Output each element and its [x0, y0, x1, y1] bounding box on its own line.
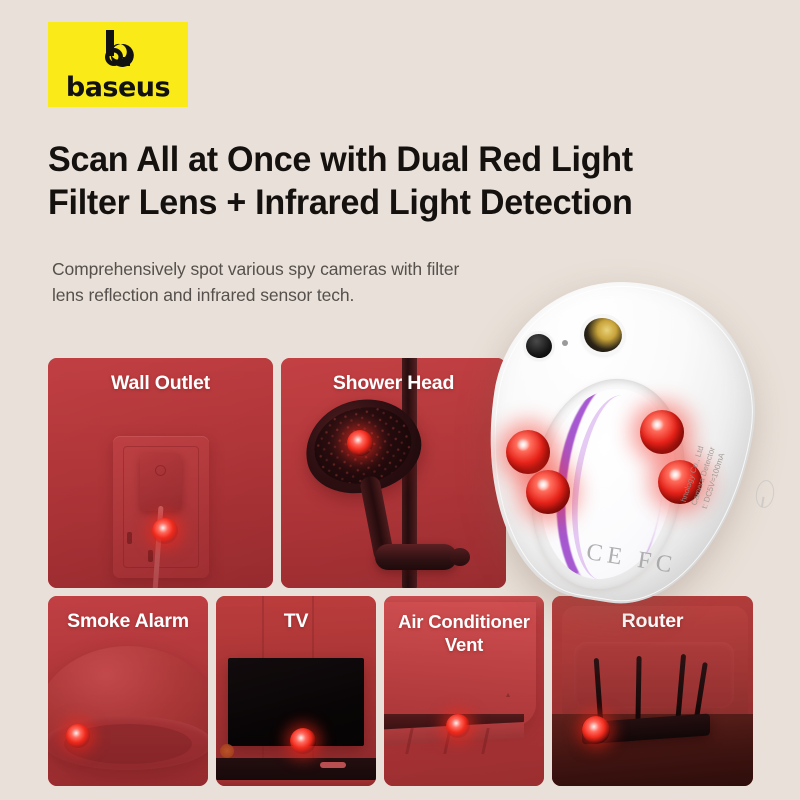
headline-line-1: Scan All at Once with Dual Red Light	[48, 138, 720, 181]
scenario-card-router[interactable]: Router	[552, 596, 753, 786]
subheadline-line-1: Comprehensively spot various spy cameras…	[52, 256, 592, 282]
outlet-slot	[148, 550, 153, 562]
scenario-card-wall-outlet[interactable]: Wall Outlet	[48, 358, 273, 588]
card-label-line-2: Vent	[384, 633, 544, 656]
ac-brand-mark: ▲	[505, 692, 512, 699]
scenario-card-smoke-alarm[interactable]: Smoke Alarm	[48, 596, 208, 786]
baseus-b-monogram-icon	[92, 28, 144, 72]
card-label-wall-outlet: Wall Outlet	[48, 372, 273, 395]
card-label-smoke-alarm: Smoke Alarm	[48, 610, 208, 633]
subheadline-line-2: lens reflection and infrared sensor tech…	[52, 282, 592, 308]
media-console	[216, 758, 376, 780]
shower-mixer-valve	[375, 544, 457, 570]
detection-dot	[290, 728, 316, 754]
detection-dot	[152, 518, 178, 544]
card-label-line-1: Air Conditioner	[384, 610, 544, 633]
sensor-lens-icon	[524, 332, 553, 360]
headline-line-2: Filter Lens + Infrared Light Detection	[48, 181, 720, 224]
pinhole-icon	[562, 340, 568, 346]
remote-control	[320, 762, 346, 768]
card-label-air-conditioner-vent: Air Conditioner Vent	[384, 610, 544, 656]
baseus-logo: baseus	[48, 22, 188, 107]
card-label-tv: TV	[216, 610, 376, 633]
console-drawers	[216, 780, 376, 786]
page-subheadline: Comprehensively spot various spy cameras…	[52, 256, 592, 308]
infrared-lens-icon	[582, 315, 625, 355]
scenario-grid-top: Wall Outlet Shower Head	[48, 358, 753, 588]
scenario-card-tv[interactable]: TV	[216, 596, 376, 786]
detection-dot	[347, 430, 373, 456]
outlet-slot	[127, 532, 132, 544]
promo-page: baseus Scan All at Once with Dual Red Li…	[0, 0, 800, 800]
page-headline: Scan All at Once with Dual Red Light Fil…	[48, 138, 720, 224]
scenario-grid-bottom: Smoke Alarm TV ▲	[48, 596, 753, 786]
plug-adapter	[140, 453, 182, 511]
detection-dot	[66, 724, 90, 748]
power-key-icon	[754, 479, 776, 509]
detection-dot	[582, 716, 610, 744]
decor-object	[220, 744, 234, 758]
card-label-router: Router	[552, 610, 753, 633]
scenario-card-shower-head[interactable]: Shower Head	[281, 358, 506, 588]
card-label-shower-head: Shower Head	[281, 372, 506, 395]
scenario-card-air-conditioner-vent[interactable]: ▲ Air Conditioner Vent	[384, 596, 544, 786]
detection-dot	[446, 714, 470, 738]
baseus-wordmark: baseus	[66, 74, 170, 101]
